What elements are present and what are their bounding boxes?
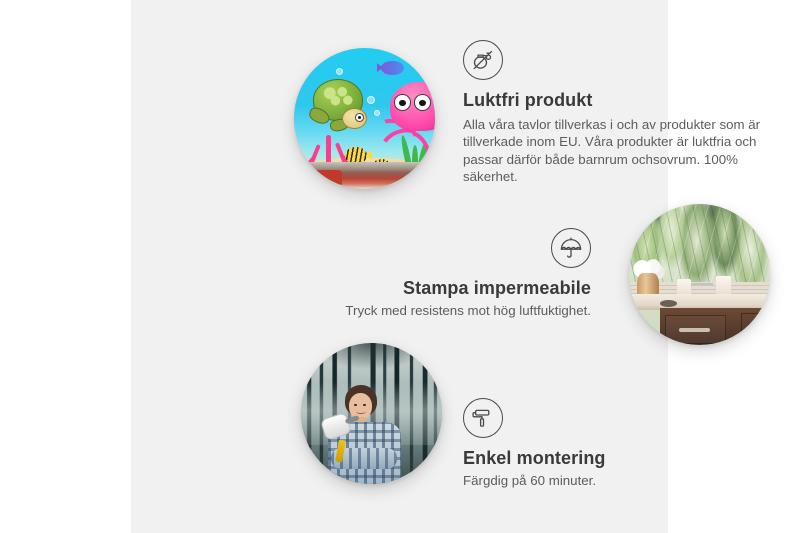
feature-title: Luktfri produkt (463, 88, 763, 112)
wood-vanity-cabinet (660, 308, 770, 345)
feature-title: Stampa impermeabile (291, 276, 591, 300)
feature-enkel-montering: Enkel montering Färgdig på 60 minuter. (463, 398, 763, 489)
room-photo-strip (294, 162, 435, 189)
soap-dish (660, 300, 677, 307)
woman-figure (326, 385, 405, 484)
eye (363, 404, 366, 405)
drawer-pull (679, 328, 710, 332)
smile (356, 409, 366, 414)
screenshot-root: Luktfri produkt Alla våra tavlor tillver… (0, 0, 800, 533)
feature-body: Färgdig på 60 minuter. (463, 472, 763, 489)
octopus-eye (394, 94, 411, 111)
striped-fish (345, 147, 368, 164)
feature-stampa-impermeabile: Stampa impermeabile Tryck med resistens … (291, 228, 591, 319)
octopus (376, 82, 435, 158)
sea-turtle (308, 79, 373, 133)
paint-roller-icon (463, 398, 503, 438)
woman-paint-roller-forest-thumbnail[interactable] (301, 343, 442, 484)
eye (354, 404, 357, 405)
turtle-head (342, 108, 367, 129)
bathroom-leaf-wallpaper-thumbnail[interactable] (629, 204, 770, 345)
octopus-eye (414, 94, 431, 111)
octopus-head (390, 82, 435, 131)
forest-canopy (301, 343, 442, 385)
feature-body: Alla våra tavlor tillverkas i och av pro… (463, 116, 763, 186)
feature-luktfri-produkt: Luktfri produkt Alla våra tavlor tillver… (463, 40, 763, 186)
no-smell-spray-bottle-icon (463, 40, 503, 80)
feature-title: Enkel montering (463, 446, 763, 470)
bubble (336, 68, 343, 75)
umbrella-icon (551, 228, 591, 268)
feature-body: Tryck med resistens mot hög luftfuktighe… (291, 302, 591, 319)
content-panel: Luktfri produkt Alla våra tavlor tillver… (131, 0, 668, 533)
underwater-kids-mural-thumbnail[interactable] (294, 48, 435, 189)
door-pull (765, 316, 769, 339)
turtle-eye (355, 113, 364, 122)
blue-fish (381, 61, 404, 75)
